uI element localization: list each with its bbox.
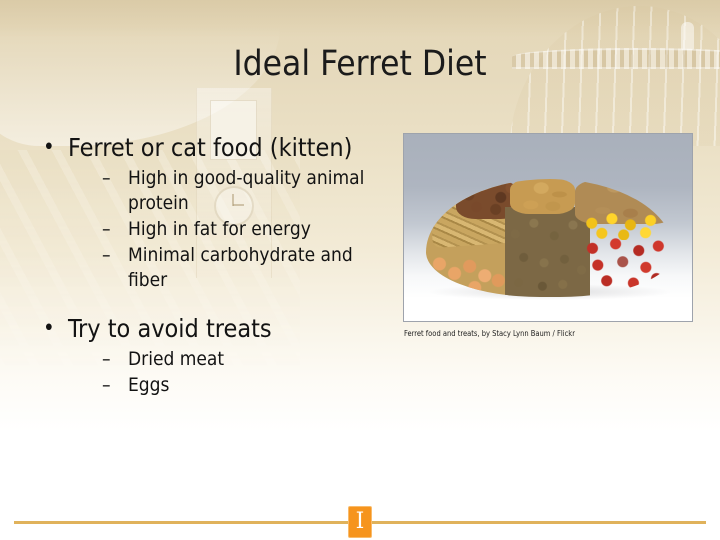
photo-caption: Ferret food and treats, by Stacy Lynn Ba… bbox=[404, 329, 694, 339]
bullet-list-level1: • Ferret or cat food (kitten) – High in … bbox=[34, 132, 394, 398]
dash-marker-icon: – bbox=[102, 243, 111, 268]
slide-title: Ideal Ferret Diet bbox=[0, 42, 720, 86]
bullet-list-level2: – High in good-quality animal protein – … bbox=[68, 166, 394, 293]
dash-marker-icon: – bbox=[102, 166, 111, 191]
sub-bullet-item-protein: – High in good-quality animal protein bbox=[98, 166, 394, 216]
background-top-band bbox=[0, 0, 720, 38]
logo-letter: I bbox=[356, 511, 365, 533]
sub-bullet-item-carbohydrate: – Minimal carbohydrate and fiber bbox=[98, 243, 394, 293]
bullet-list-level2: – Dried meat – Eggs bbox=[68, 347, 394, 398]
sub-bullet-text: Eggs bbox=[128, 374, 169, 396]
dash-marker-icon: – bbox=[102, 347, 111, 372]
bullet-marker-icon: • bbox=[43, 313, 55, 344]
ferret-food-photo bbox=[403, 133, 693, 322]
bullet-spacer bbox=[34, 295, 394, 313]
photo-food-pile bbox=[426, 179, 674, 297]
bullet-item-avoid-treats: • Try to avoid treats – Dried meat – Egg… bbox=[34, 313, 394, 398]
sub-bullet-text: Dried meat bbox=[128, 348, 224, 370]
sub-bullet-item-dried-meat: – Dried meat bbox=[98, 347, 394, 372]
bullet-marker-icon: • bbox=[43, 132, 55, 163]
bullet-text: Try to avoid treats bbox=[68, 314, 272, 343]
sub-bullet-text: High in good-quality animal protein bbox=[128, 167, 364, 214]
bullet-text: Ferret or cat food (kitten) bbox=[68, 133, 352, 162]
slide-body: • Ferret or cat food (kitten) – High in … bbox=[34, 132, 394, 400]
photo-red-treats-region bbox=[580, 236, 669, 293]
sub-bullet-text: High in fat for energy bbox=[128, 218, 311, 240]
photo-brown-kibble-region bbox=[505, 207, 589, 297]
sub-bullet-item-eggs: – Eggs bbox=[98, 373, 394, 398]
photo-tan-cylinders-region bbox=[510, 179, 574, 214]
dash-marker-icon: – bbox=[102, 217, 111, 242]
block-i-logo: I bbox=[348, 506, 372, 538]
bullet-item-ferret-or-cat-food: • Ferret or cat food (kitten) – High in … bbox=[34, 132, 394, 293]
slide-canvas: Ideal Ferret Diet • Ferret or cat food (… bbox=[0, 0, 720, 540]
photo-content bbox=[404, 134, 692, 321]
dash-marker-icon: – bbox=[102, 373, 111, 398]
sub-bullet-text: Minimal carbohydrate and fiber bbox=[128, 244, 353, 291]
sub-bullet-item-fat: – High in fat for energy bbox=[98, 217, 394, 242]
